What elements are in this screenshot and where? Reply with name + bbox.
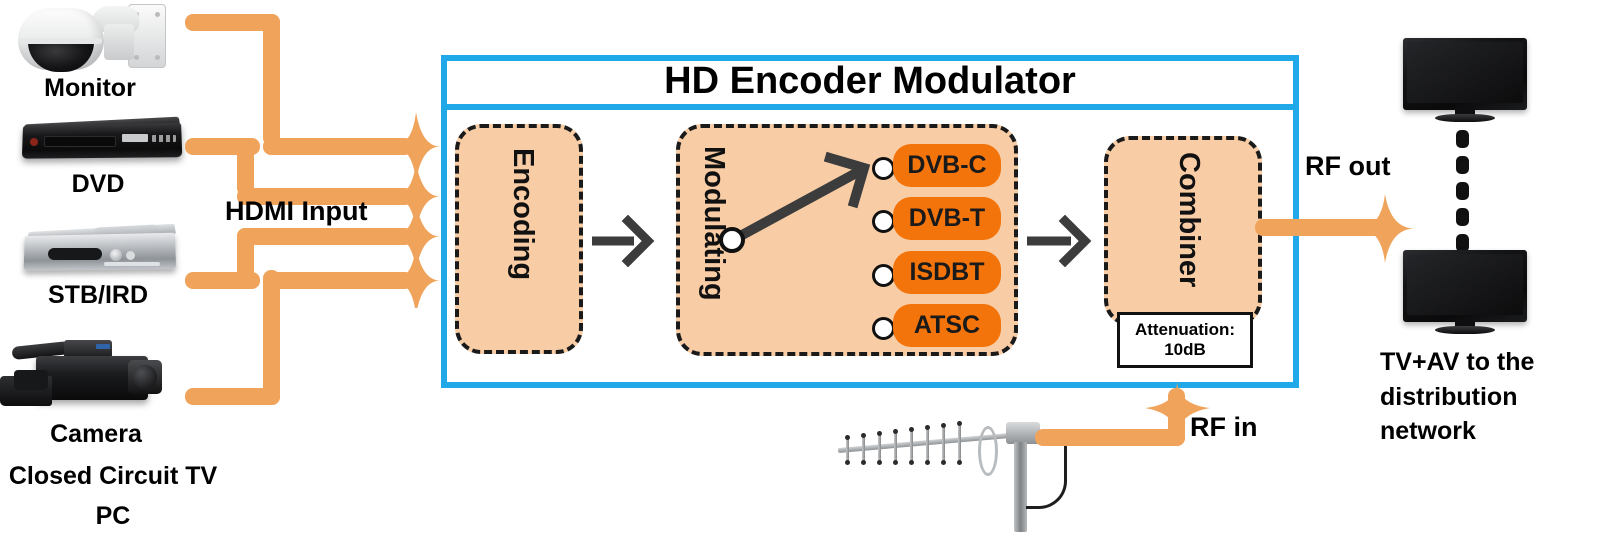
- camcorder-viewfinder: [14, 370, 48, 390]
- modulation-option-isdbt[interactable]: ISDBT: [893, 251, 1001, 294]
- page-title: HD Encoder Modulator: [441, 60, 1299, 103]
- stb-button: [126, 251, 135, 260]
- radio-dvb-c[interactable]: [872, 157, 895, 180]
- stage-label-combiner: Combiner: [1172, 152, 1205, 312]
- tv-screen: [1403, 38, 1527, 110]
- chassis-title-divider: [441, 104, 1299, 110]
- radio-dvb-t[interactable]: [872, 210, 895, 233]
- modulation-selector-switch[interactable]: [718, 148, 888, 258]
- output-destination-label: TV+AV to the distribution network: [1380, 345, 1592, 449]
- modulation-option-atsc[interactable]: ATSC: [893, 304, 1001, 347]
- radio-atsc[interactable]: [872, 317, 895, 340]
- flat-tv-icon-top: [1403, 38, 1533, 130]
- attenuation-value: 10dB: [1164, 340, 1206, 360]
- ptz-arm-lower: [104, 24, 134, 60]
- hdmi-input-label: HDMI Input: [225, 196, 367, 227]
- dvd-power-button: [30, 138, 38, 146]
- output-label-line-3: network: [1380, 414, 1592, 449]
- stb-strip: [104, 262, 160, 266]
- camcorder-icon: [0, 330, 200, 422]
- output-label-line-2: distribution: [1380, 380, 1592, 415]
- source-note-pc: PC: [0, 502, 226, 531]
- attenuation-title: Attenuation:: [1135, 320, 1235, 340]
- stage-label-encoding: Encoding: [506, 148, 539, 338]
- dvd-tray: [44, 136, 116, 147]
- dvd-player-icon: [0, 118, 200, 170]
- source-label-monitor: Monitor: [0, 74, 180, 103]
- rf-in-label: RF in: [1190, 412, 1258, 443]
- arrow-modulating-to-combiner: [1025, 215, 1099, 267]
- flat-tv-icon-bottom: [1403, 250, 1533, 342]
- camcorder-badge: [96, 344, 110, 349]
- source-note-cctv: Closed Circuit TV: [0, 462, 226, 491]
- arrow-encoding-to-modulating: [590, 215, 660, 267]
- tv-screen: [1403, 250, 1527, 322]
- rf-out-label: RF out: [1305, 151, 1390, 182]
- set-top-box-icon: [0, 224, 200, 284]
- hdmi-run-3: [237, 228, 413, 245]
- tv-base: [1435, 326, 1495, 334]
- ptz-ring: [20, 38, 102, 44]
- dvd-display: [122, 134, 148, 142]
- source-label-camera: Camera: [0, 420, 192, 449]
- diagram-canvas: Monitor DVD STB/IRD Camera Closed Circui…: [0, 0, 1600, 545]
- modulation-option-dvb-c[interactable]: DVB-C: [893, 144, 1001, 187]
- hdmi-line-camera-v: [263, 270, 280, 405]
- output-label-line-1: TV+AV to the: [1380, 345, 1592, 380]
- dvd-buttons: [152, 135, 176, 142]
- camcorder-lens: [128, 360, 162, 394]
- ptz-dome-camera-icon: [0, 0, 180, 78]
- antenna-reflector-loop: [978, 426, 998, 476]
- tv-base: [1435, 114, 1495, 122]
- modulation-option-dvb-t[interactable]: DVB-T: [893, 197, 1001, 240]
- source-label-stb-ird: STB/IRD: [0, 281, 196, 310]
- rf-in-line-h: [1035, 429, 1185, 446]
- tv-chain-dots: [1456, 130, 1476, 240]
- yagi-antenna-icon: [838, 408, 1068, 518]
- radio-isdbt[interactable]: [872, 264, 895, 287]
- source-label-dvd: DVD: [0, 170, 196, 199]
- hdmi-line-monitor-v: [263, 14, 280, 146]
- stb-dial: [110, 249, 122, 261]
- attenuation-readout: Attenuation: 10dB: [1117, 312, 1253, 368]
- stb-tray: [48, 248, 102, 260]
